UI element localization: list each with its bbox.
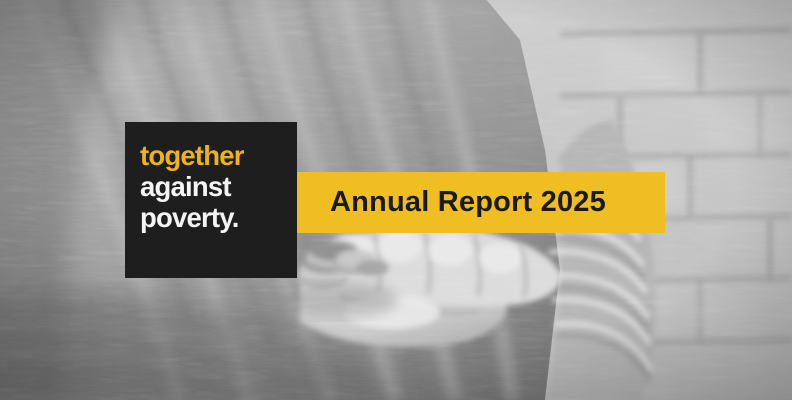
logo-line-poverty: poverty. <box>140 202 297 233</box>
logo-line-against: against <box>140 171 297 202</box>
title-banner: Annual Report 2025 <box>297 172 665 233</box>
page-title: Annual Report 2025 <box>330 188 606 217</box>
annual-report-banner: together against poverty. Annual Report … <box>0 0 792 400</box>
organisation-logo: together against poverty. <box>125 122 297 278</box>
logo-line-together: together <box>140 140 297 171</box>
